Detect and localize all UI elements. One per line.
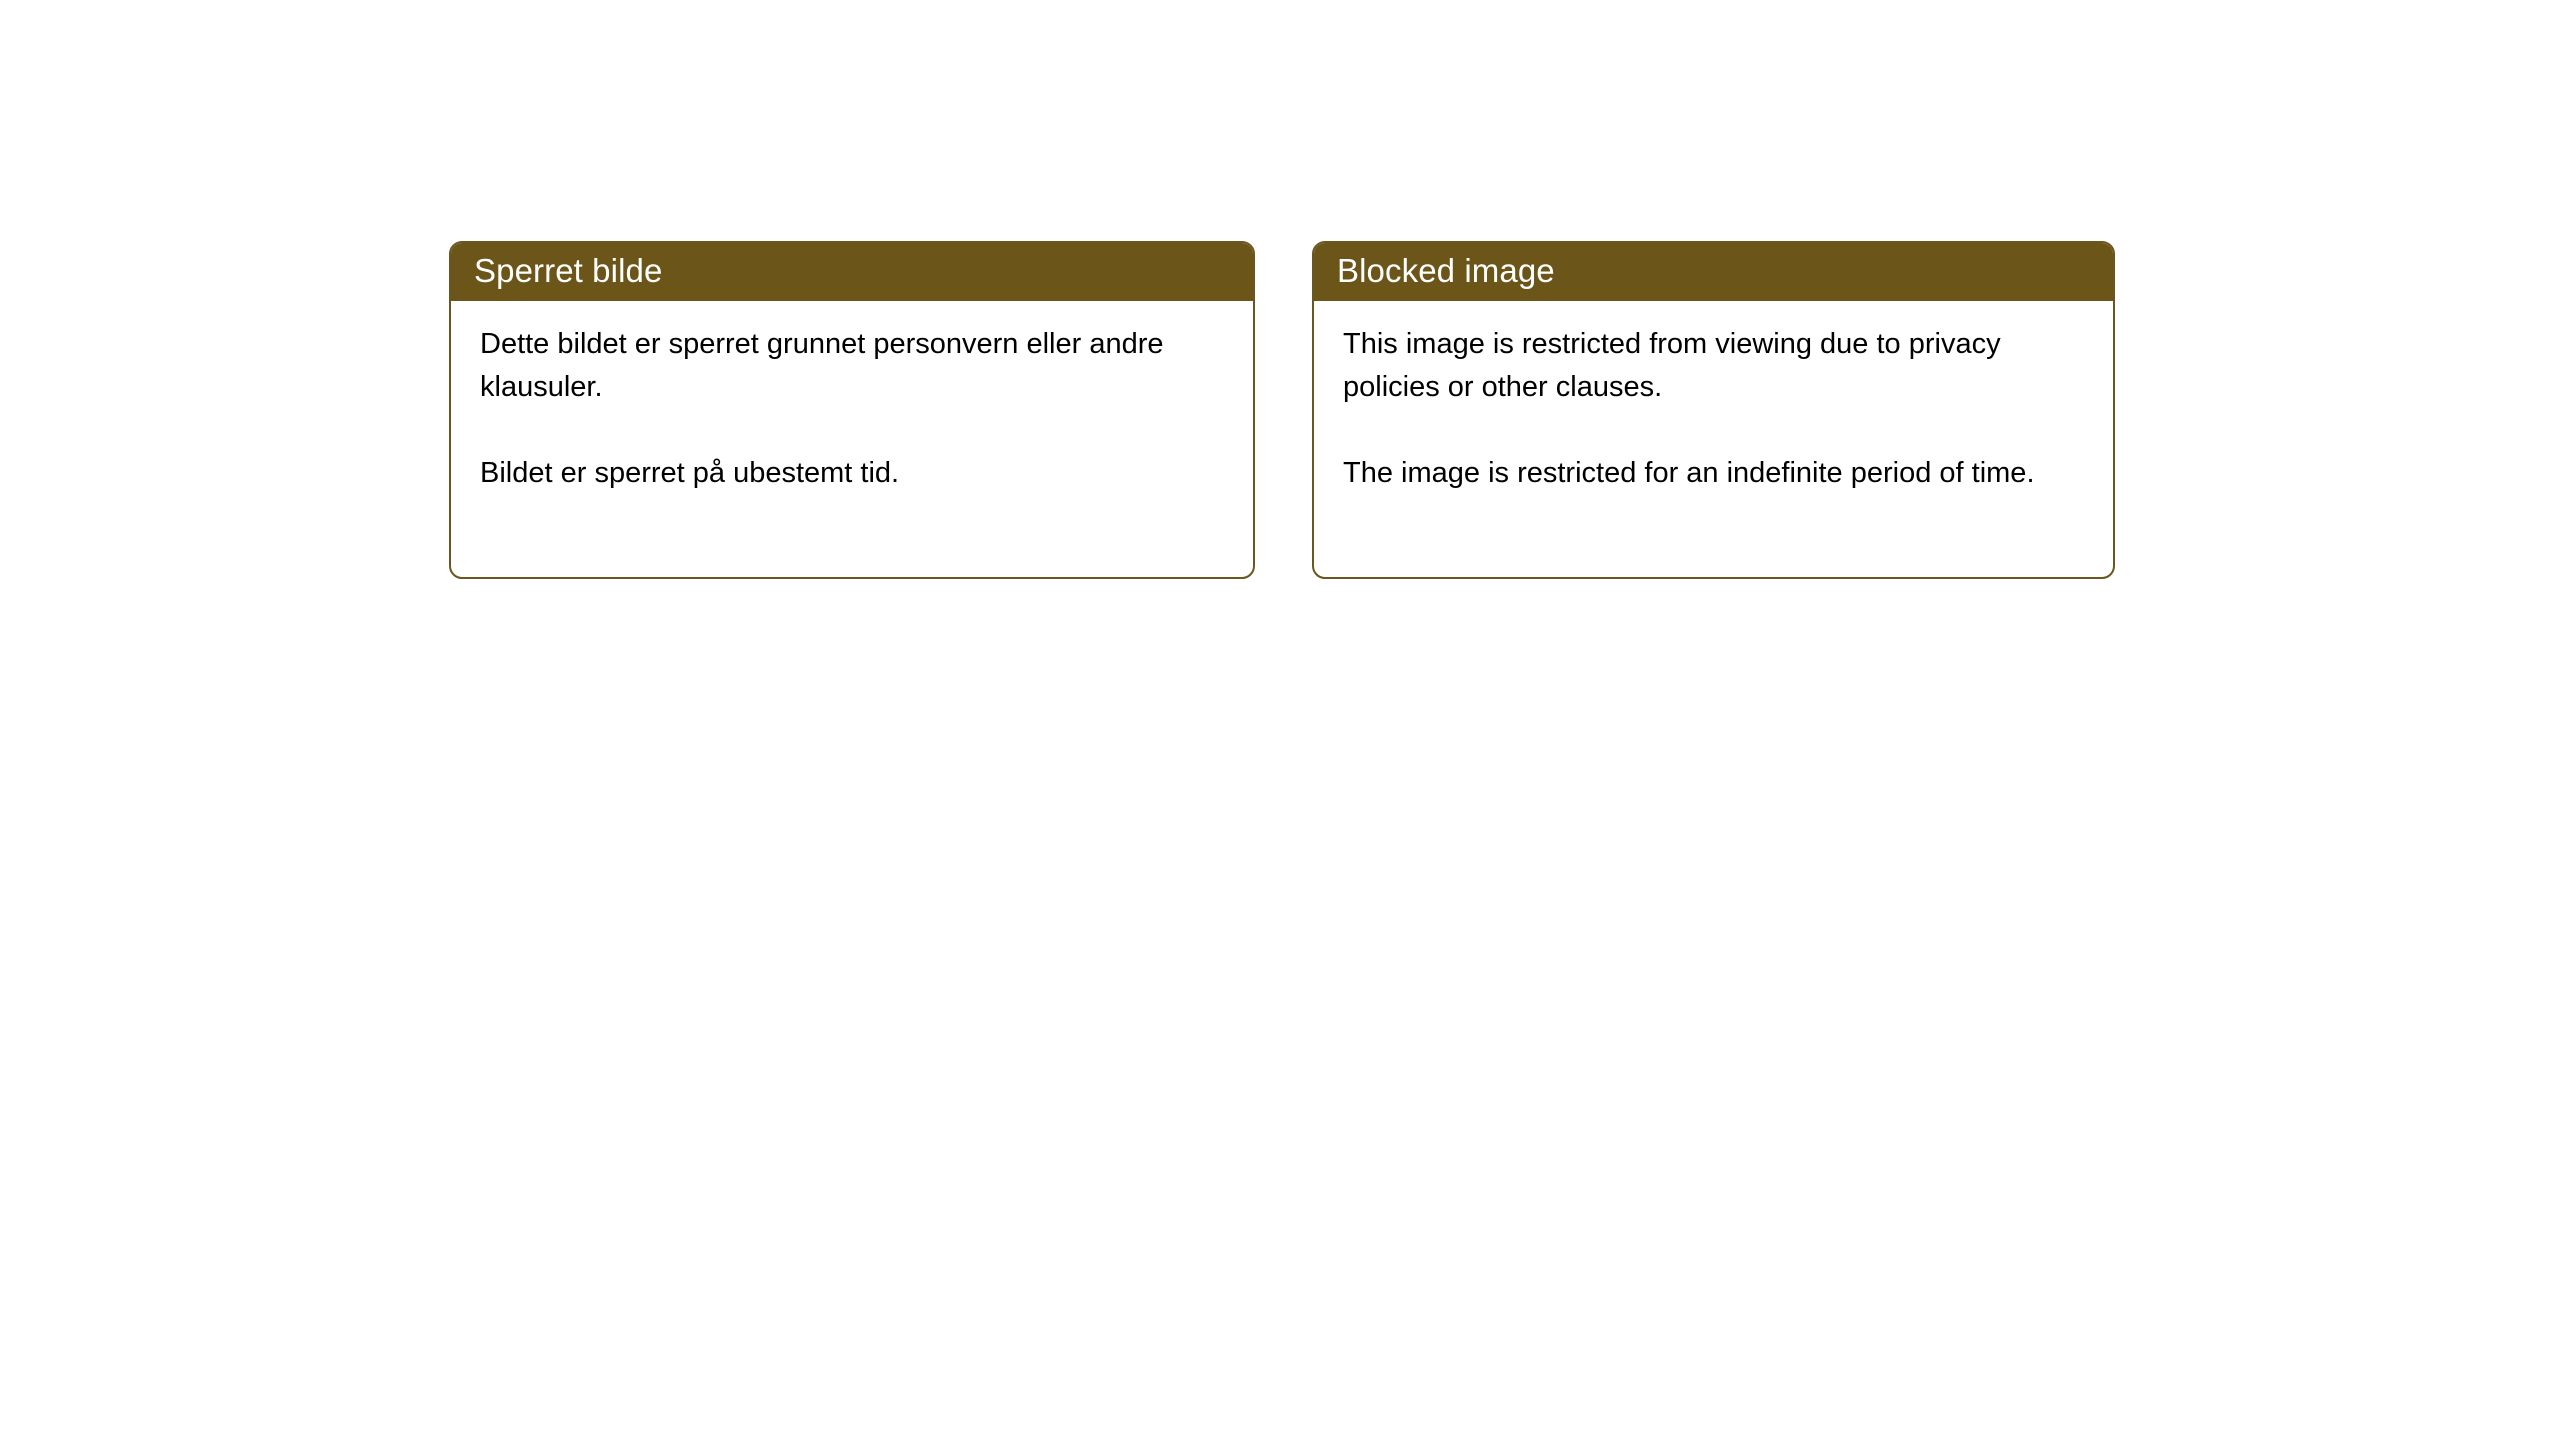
page-canvas: Sperret bilde Dette bildet er sperret gr… [0, 0, 2560, 1440]
panel-header-norwegian: Sperret bilde [449, 241, 1255, 301]
notice-paragraph-duration-english: The image is restricted for an indefinit… [1343, 452, 2087, 495]
blocked-image-notice-norwegian: Sperret bilde Dette bildet er sperret gr… [449, 241, 1255, 579]
blocked-image-notice-english: Blocked image This image is restricted f… [1312, 241, 2115, 579]
panel-header-english: Blocked image [1312, 241, 2115, 301]
panel-title-norwegian: Sperret bilde [474, 253, 662, 289]
notice-paragraph-reason-norwegian: Dette bildet er sperret grunnet personve… [480, 323, 1227, 409]
notice-paragraph-duration-norwegian: Bildet er sperret på ubestemt tid. [480, 452, 1227, 495]
panel-body-norwegian: Dette bildet er sperret grunnet personve… [451, 301, 1253, 495]
notice-paragraph-reason-english: This image is restricted from viewing du… [1343, 323, 2087, 409]
panel-title-english: Blocked image [1337, 253, 1555, 289]
panel-body-english: This image is restricted from viewing du… [1314, 301, 2113, 495]
